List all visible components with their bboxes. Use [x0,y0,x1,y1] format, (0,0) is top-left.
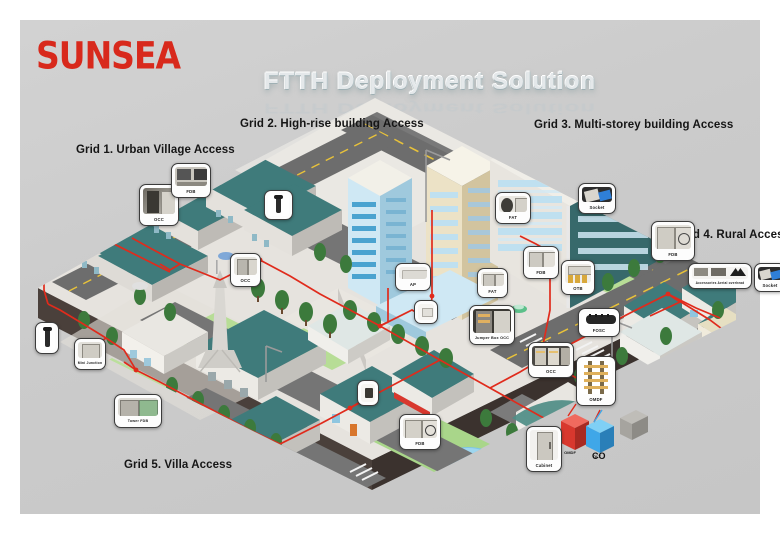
mini-junction-image [78,342,102,358]
callout-fat-highrise[interactable]: FAT [477,268,508,298]
callout-accessories-aerial[interactable]: Accessories Aerial overhead [688,263,752,289]
grid-label-urban-village: Grid 1. Urban Village Access [76,144,235,156]
callout-label: FDB [524,267,558,278]
co-equipment-racks [561,404,648,453]
poster-canvas: SUNSEA FTTH Deployment Solution FTTH Dep… [20,20,760,514]
jumper-box-image [473,309,511,333]
callout-fdb-village[interactable]: FDB [171,163,211,198]
tower-fdb-image [118,398,158,416]
callout-tower-fdb[interactable]: Tower FDB [114,394,162,428]
screenshot-root: SUNSEA FTTH Deployment Solution FTTH Dep… [0,0,780,534]
callout-socket-multistorey[interactable]: Socket [578,183,616,214]
callout-label: FDB [400,438,440,449]
fdb-rural-image [655,225,691,249]
callout-fdb-rural[interactable]: FDB [651,221,695,261]
callout-label: FAT [478,286,507,297]
callout-omdf-road[interactable]: OMDF [576,356,616,406]
callout-mini-junction[interactable]: Mini Junction [74,338,106,370]
callout-onu-highrise[interactable] [414,300,438,324]
fdb-multi-image [527,250,555,267]
ap-device-image [399,267,427,279]
callout-socket-rural[interactable]: Socket [754,263,780,292]
callout-pole-closure[interactable] [35,322,59,354]
callout-jumper-box-occ[interactable]: Jumper Box OCC [469,305,515,345]
callout-label: Tower FDB [115,416,161,427]
callout-label: OMDF [577,394,615,405]
callout-label: AP [396,279,430,290]
callout-fosc-road[interactable]: FOSC [578,308,620,337]
omdf-frame-image [580,360,612,394]
fat-multi-image [499,196,527,212]
callout-label: OTB [562,283,594,294]
callout-label: OCC [231,275,260,286]
callout-closure-village[interactable] [264,190,293,220]
callout-label: Socket [755,280,780,291]
callout-fdb-multistorey[interactable]: FDB [523,246,559,279]
callout-label: OCC [140,214,178,225]
callout-label: Socket [579,202,615,213]
callout-otb-multistorey[interactable]: OTB [561,260,595,295]
callout-cabinet-co[interactable]: Cabinet [526,426,562,472]
callout-label [415,312,437,323]
callout-label: Mini Junction [75,358,105,369]
otb-box-image [565,264,591,283]
isometric-city-scene [20,20,760,514]
callout-label: Cabinet [527,460,561,471]
fdb-box-image [175,167,207,186]
co-label: CO [592,451,606,461]
fat-box-image [481,272,504,286]
callout-label: Jumper Box OCC [470,333,514,344]
callout-label: FDB [172,186,210,197]
callout-fdb-villa[interactable]: FDB [399,414,441,450]
grid-label-highrise: Grid 2. High-rise building Access [240,118,424,130]
grid-label-multistorey: Grid 3. Multi-storey building Access [534,119,733,131]
callout-label: OCC [529,366,573,377]
fosc-closure-image [582,312,616,325]
callout-label: Accessories Aerial overhead [689,279,751,288]
callout-label: FAT [496,212,530,223]
callout-fat-multistorey[interactable]: FAT [495,192,531,224]
callout-occ-crossroad[interactable]: OCC [528,342,574,378]
callout-label [36,342,58,353]
occ-street-image [234,257,257,275]
fdb-villa-image [403,418,437,438]
socket-rural-image [758,267,780,280]
callout-label [265,208,292,219]
socket-face-panel-image [582,187,612,202]
commercial-row-right [620,308,760,466]
accessories-image [692,267,748,279]
callout-label: FOSC [579,325,619,336]
callout-label [358,394,378,405]
occ-crossroad-image [532,346,570,366]
callout-ap-highrise[interactable]: AP [395,263,431,291]
grid-label-villa: Grid 5. Villa Access [124,459,232,471]
callout-onu-villa[interactable] [357,380,379,406]
cabinet-image [530,430,558,460]
callout-occ-street[interactable]: OCC [230,253,261,287]
callout-label: FDB [652,249,694,260]
